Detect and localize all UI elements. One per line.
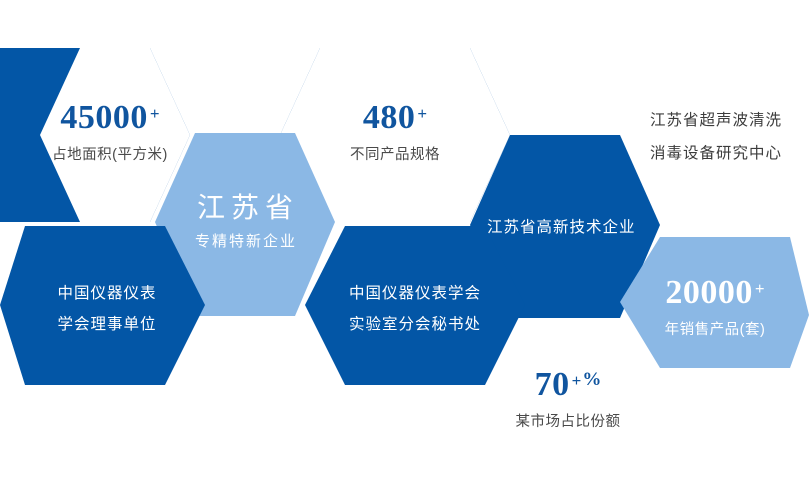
stat-market-share-suffix: +	[572, 371, 582, 390]
stat-specs-caption: 不同产品规格	[295, 146, 495, 166]
stat-annual-sales-suffix: +	[755, 279, 765, 298]
stat-specs-value-row: 480+	[295, 95, 495, 141]
infographic-canvas: 45000+ 占地面积(平方米) 480+ 不同产品规格 江苏省 专精特新企业 …	[0, 0, 809, 487]
cert-instrument-society-line1: 中国仪器仪表	[12, 278, 202, 309]
stat-specs-number: 480	[363, 95, 416, 141]
stat-market-share-caption: 某市场占比份额	[473, 413, 663, 433]
stat-specs: 480+ 不同产品规格	[295, 95, 495, 165]
stat-area-caption: 占地面积(平方米)	[10, 146, 210, 166]
stat-market-share-value-row: 70+%	[473, 362, 663, 408]
stat-annual-sales-number: 20000	[665, 270, 753, 316]
research-center-note: 江苏省超声波清洗 消毒设备研究中心	[650, 105, 782, 170]
brand-title: 江苏省	[155, 186, 335, 226]
stat-annual-sales-value-row: 20000+	[625, 270, 805, 316]
stat-area-suffix: +	[150, 104, 160, 123]
research-center-note-line1: 江苏省超声波清洗	[650, 105, 782, 138]
cert-instrument-society-line2: 学会理事单位	[12, 309, 202, 340]
research-center-note-line2: 消毒设备研究中心	[650, 138, 782, 171]
stat-area-value-row: 45000+	[10, 95, 210, 141]
hexagon-shapes-layer	[0, 0, 809, 487]
stat-annual-sales: 20000+ 年销售产品(套)	[625, 270, 805, 340]
stat-area-number: 45000	[60, 95, 148, 141]
stat-specs-suffix: +	[417, 104, 427, 123]
stat-area: 45000+ 占地面积(平方米)	[10, 95, 210, 165]
tag-high-tech: 江苏省高新技术企业	[487, 215, 636, 237]
cert-lab-branch-line2: 实验室分会秘书处	[320, 309, 510, 340]
stat-market-share: 70+% 某市场占比份额	[473, 362, 663, 432]
stat-annual-sales-caption: 年销售产品(套)	[625, 321, 805, 341]
cert-lab-branch-line1: 中国仪器仪表学会	[320, 278, 510, 309]
brand-block: 江苏省 专精特新企业	[155, 186, 335, 251]
stat-market-share-percent: %	[582, 369, 601, 390]
cert-lab-branch: 中国仪器仪表学会 实验室分会秘书处	[320, 278, 510, 340]
stat-market-share-number: 70	[535, 362, 570, 408]
cert-instrument-society: 中国仪器仪表 学会理事单位	[12, 278, 202, 340]
brand-subtitle: 专精特新企业	[155, 230, 335, 251]
